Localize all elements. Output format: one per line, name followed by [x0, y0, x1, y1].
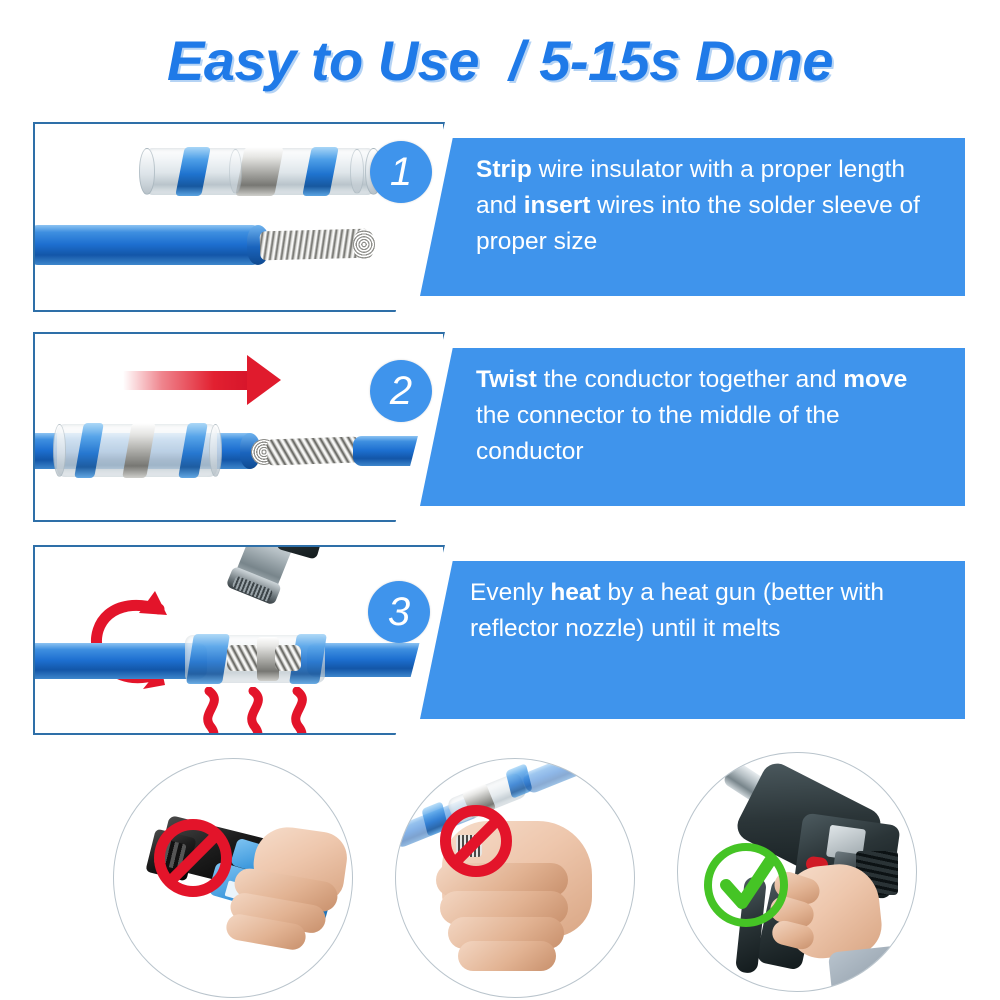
step-row-1: 1 Strip wire insulator with a proper len… [0, 122, 1000, 312]
step-number-label: 3 [388, 590, 410, 635]
step-1-keyword-1: Strip [476, 156, 532, 183]
step-2-keyword-2: move [843, 366, 907, 393]
step-3-text: Evenly heat by a heat gun (better with r… [470, 575, 940, 647]
heat-waves-icon [195, 687, 325, 733]
step-number-badge-3: 3 [368, 581, 430, 643]
step-2-body-1: the conductor together and [537, 366, 843, 393]
step-1-text-panel: Strip wire insulator with a proper lengt… [420, 138, 965, 296]
step-row-3: 3 Evenly heat by a heat gun (better with… [0, 545, 1000, 735]
step-row-2: 2 Twist the conductor together and move … [0, 332, 1000, 522]
step-3-artwork [35, 547, 443, 733]
step-1-text: Strip wire insulator with a proper lengt… [476, 152, 946, 260]
step-2-text-panel: Twist the conductor together and move th… [420, 348, 965, 506]
step-3-keyword-1: heat [550, 579, 600, 606]
step-3-illustration-frame [33, 545, 445, 735]
prohibition-icon [440, 805, 512, 877]
step-number-badge-2: 2 [370, 360, 432, 422]
infographic-page: Easy to Use / 5-15s Done [0, 0, 1000, 1000]
step-2-artwork [35, 334, 443, 520]
step-1-keyword-2: insert [524, 192, 591, 219]
approved-check-icon [700, 839, 792, 931]
step-2-text: Twist the conductor together and move th… [476, 362, 946, 470]
footer-example-heat-gun [677, 752, 917, 992]
step-number-label: 2 [390, 369, 412, 414]
step-2-keyword-1: Twist [476, 366, 537, 393]
step-3-text-panel: Evenly heat by a heat gun (better with r… [420, 561, 965, 719]
footer-example-crimping-tool [113, 758, 353, 998]
step-2-illustration-frame [33, 332, 445, 522]
prohibition-icon [154, 819, 232, 897]
footer-example-lighter-flame [395, 758, 635, 998]
step-number-badge-1: 1 [370, 141, 432, 203]
page-title: Easy to Use / 5-15s Done [0, 28, 1000, 93]
step-number-label: 1 [390, 150, 412, 195]
step-2-body-2: the connector to the middle of the condu… [476, 402, 840, 465]
step-3-body-1: Evenly [470, 579, 550, 606]
